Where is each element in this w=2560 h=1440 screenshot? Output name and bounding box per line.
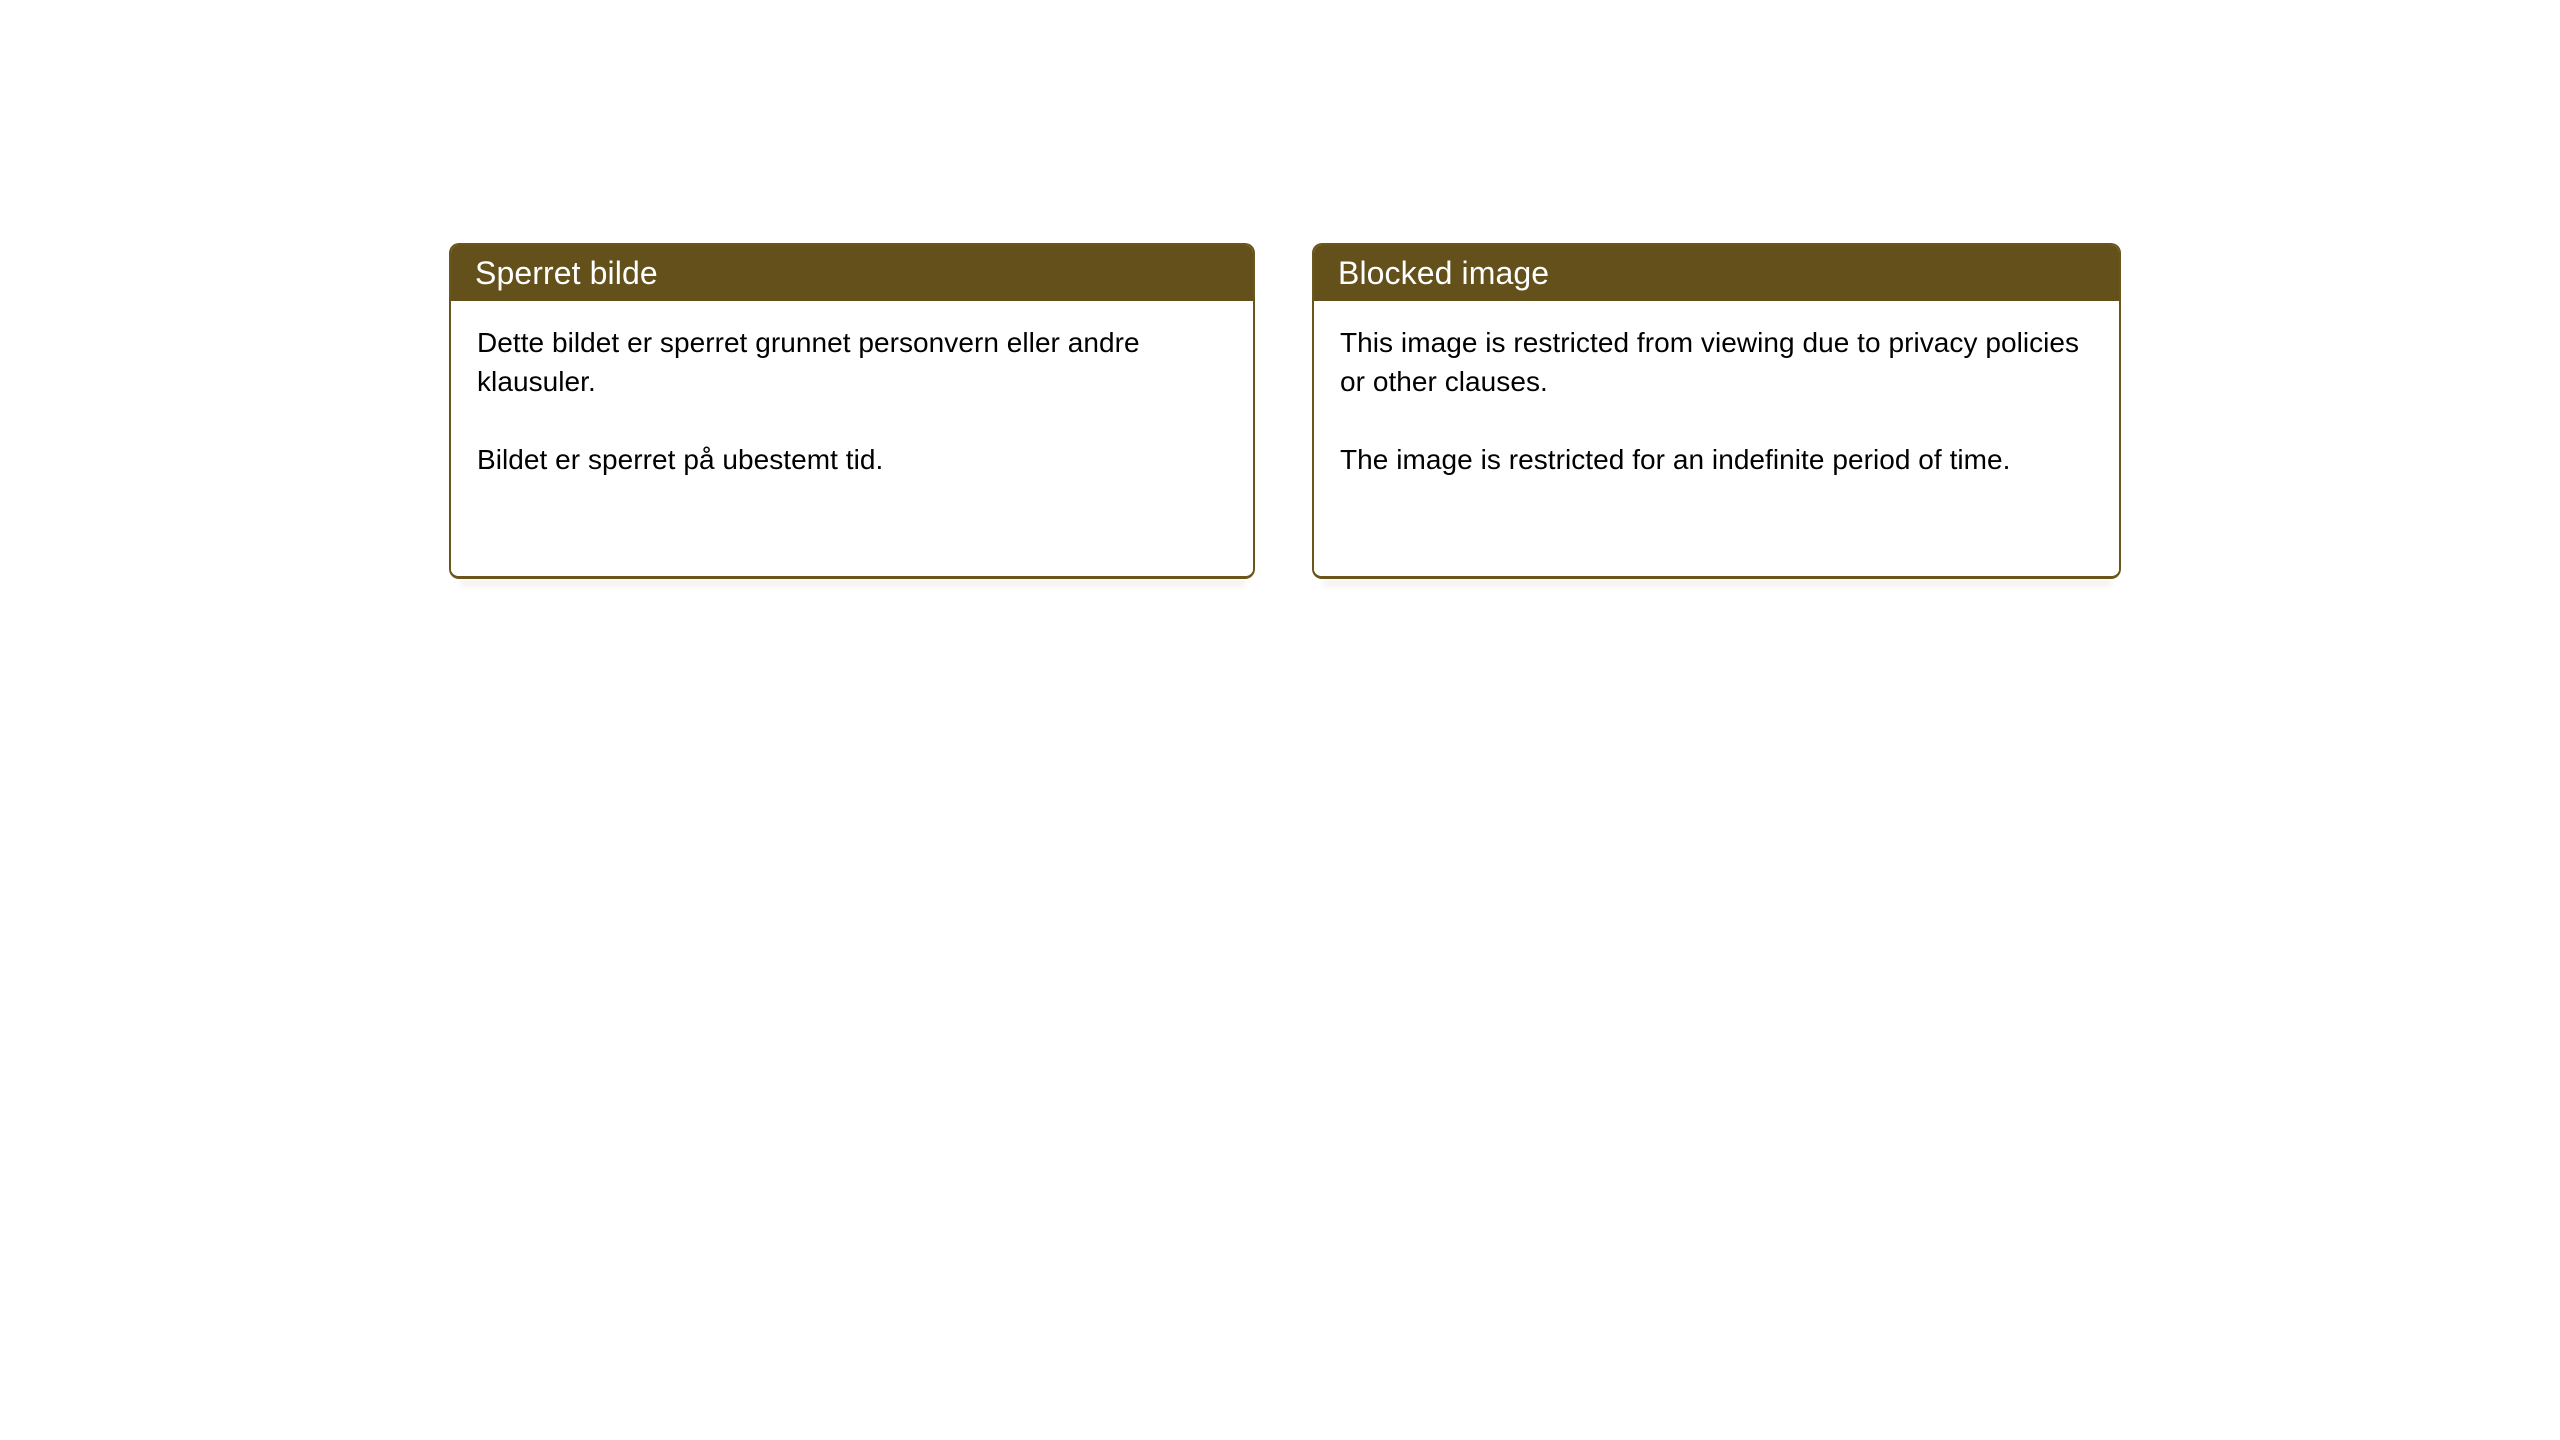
page-canvas: Sperret bilde Dette bildet er sperret gr… xyxy=(0,0,2560,1440)
card-body-english: This image is restricted from viewing du… xyxy=(1314,301,2119,576)
card-paragraph-duration-english: The image is restricted for an indefinit… xyxy=(1340,440,2095,479)
card-paragraph-reason-norwegian: Dette bildet er sperret grunnet personve… xyxy=(477,323,1229,401)
card-shadow-right xyxy=(1323,580,2112,586)
card-header-norwegian: Sperret bilde xyxy=(451,245,1253,301)
blocked-image-notice-card-english: Blocked image This image is restricted f… xyxy=(1312,243,2121,579)
card-header-english: Blocked image xyxy=(1314,245,2119,301)
card-body-norwegian: Dette bildet er sperret grunnet personve… xyxy=(451,301,1253,576)
card-shadow-left xyxy=(460,580,1246,586)
card-title-norwegian: Sperret bilde xyxy=(475,255,658,291)
card-title-english: Blocked image xyxy=(1338,255,1549,291)
card-paragraph-duration-norwegian: Bildet er sperret på ubestemt tid. xyxy=(477,440,1229,479)
blocked-image-notice-card-norwegian: Sperret bilde Dette bildet er sperret gr… xyxy=(449,243,1255,579)
card-paragraph-reason-english: This image is restricted from viewing du… xyxy=(1340,323,2095,401)
